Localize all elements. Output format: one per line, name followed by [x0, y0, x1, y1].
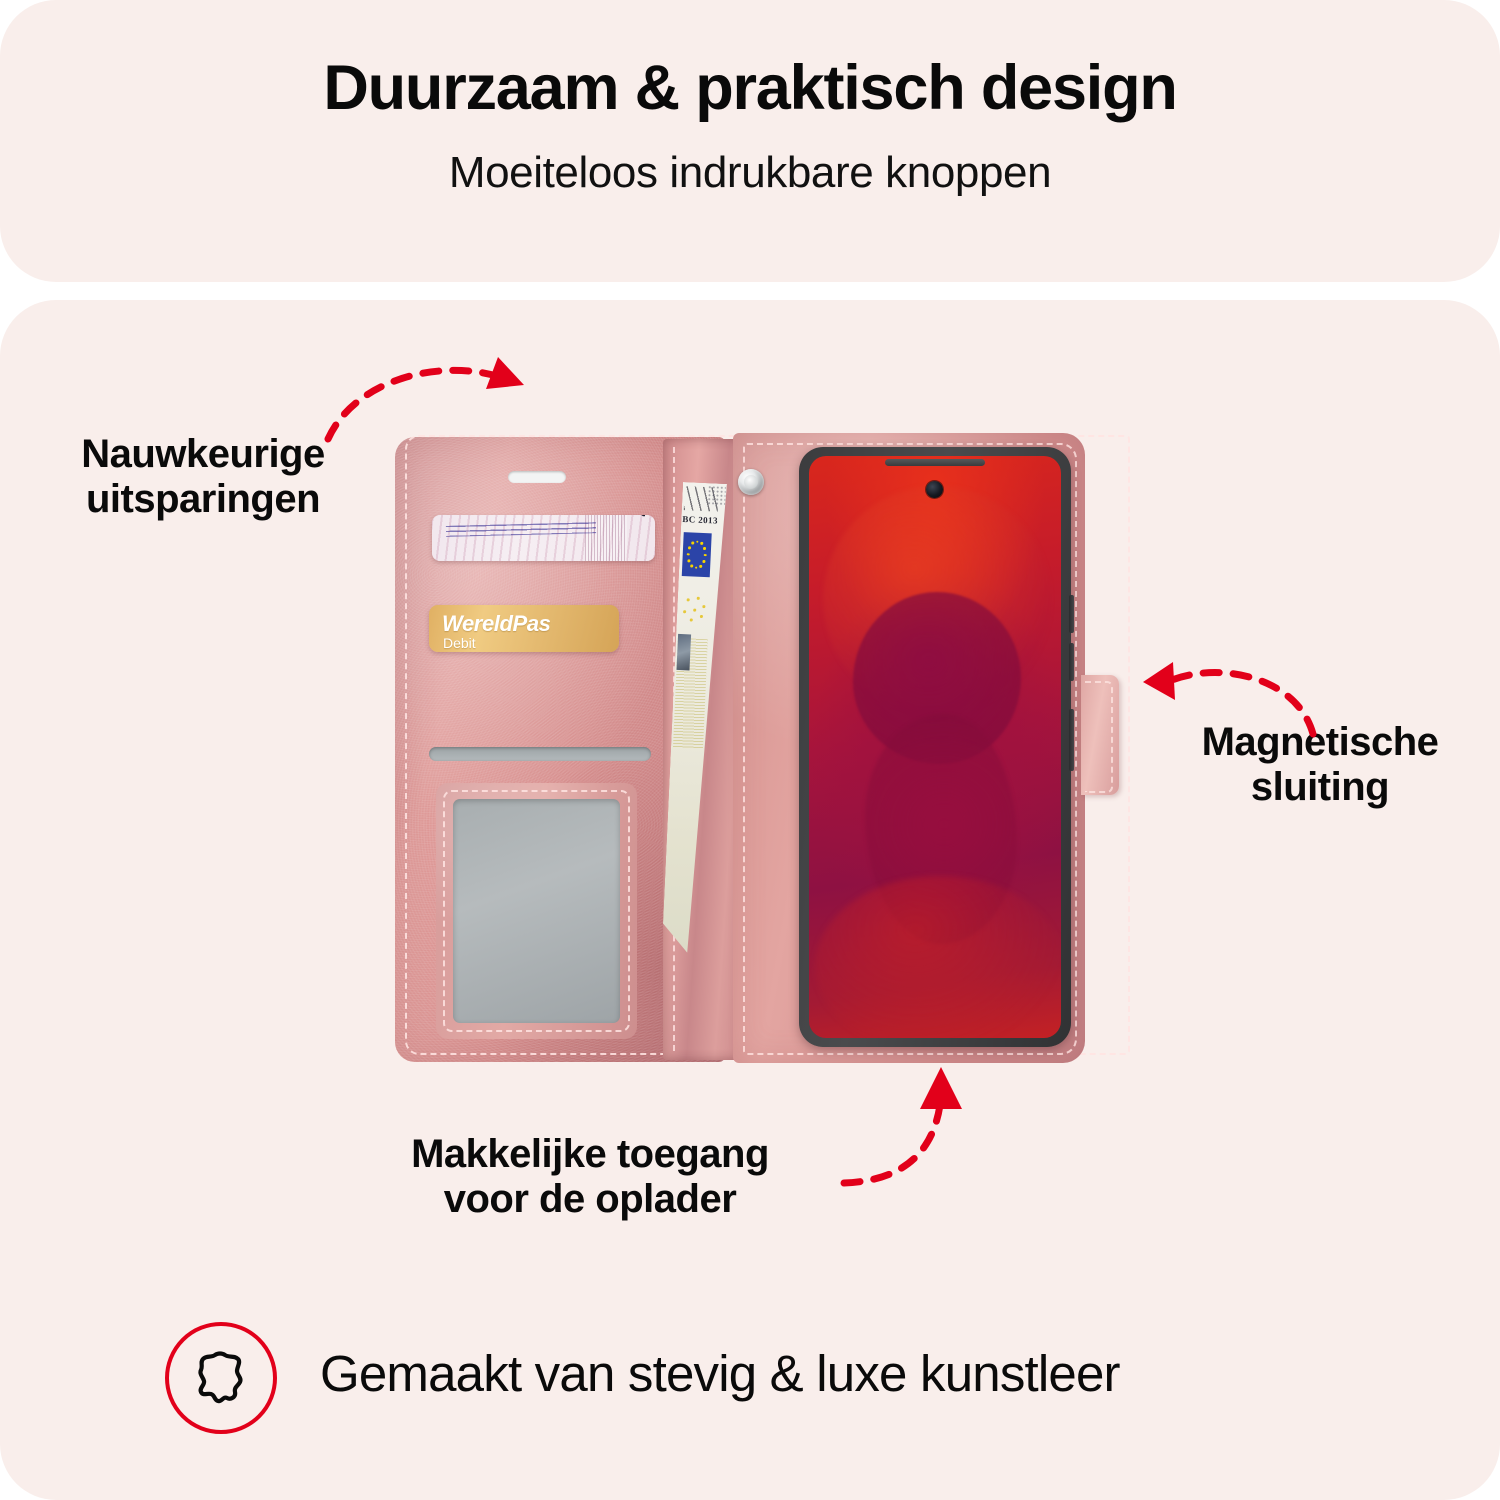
- page-title: Duurzaam & praktisch design: [0, 52, 1500, 124]
- product-photo: 797 WereldPas Debit BC 2013: [395, 425, 1140, 1065]
- power-button[interactable]: [1069, 709, 1074, 771]
- badge-text: Gemaakt van stevig & luxe kunstleer: [320, 1344, 1120, 1403]
- id-window-stitching: [443, 790, 630, 1032]
- volume-down-button[interactable]: [1069, 643, 1074, 681]
- debit-card-type: Debit: [443, 635, 476, 651]
- front-camera-icon: [926, 481, 943, 498]
- callout-precise-cutouts: Nauwkeurige uitsparingen: [38, 432, 368, 522]
- empty-card-slot: [429, 747, 651, 761]
- debit-card: WereldPas Debit: [429, 605, 619, 652]
- header-panel: [0, 0, 1500, 282]
- phone-screen: [809, 456, 1061, 1038]
- volume-up-button[interactable]: [1069, 595, 1074, 633]
- banknote-lower-stars: [679, 594, 709, 631]
- eu-flag-stars: [682, 532, 712, 577]
- callout-charger-access: Makkelijke toegang voor de oplader: [330, 1132, 850, 1222]
- wallpaper-shape-d: [815, 876, 1061, 1038]
- id-window-frame: [436, 783, 637, 1039]
- speaker-cutout: [508, 471, 566, 483]
- banknote-serial: BC 2013: [682, 514, 718, 526]
- magnetic-flap-stitching: [1085, 681, 1113, 793]
- earpiece-speaker: [885, 459, 985, 466]
- id-card: 797: [432, 515, 655, 561]
- smartphone: [799, 447, 1071, 1047]
- banknote-hologram: [676, 634, 691, 671]
- callout-magnetic-closure: Magnetische sluiting: [1160, 720, 1480, 810]
- page-subtitle: Moeiteloos indrukbare knoppen: [0, 148, 1500, 198]
- snap-rivet-button: [738, 469, 764, 495]
- id-card-number: 797: [628, 515, 648, 518]
- debit-card-name: WereldPas: [442, 611, 551, 637]
- banknote-dots: [707, 485, 726, 506]
- leather-badge: [165, 1322, 277, 1434]
- leather-hide-icon: [189, 1346, 253, 1410]
